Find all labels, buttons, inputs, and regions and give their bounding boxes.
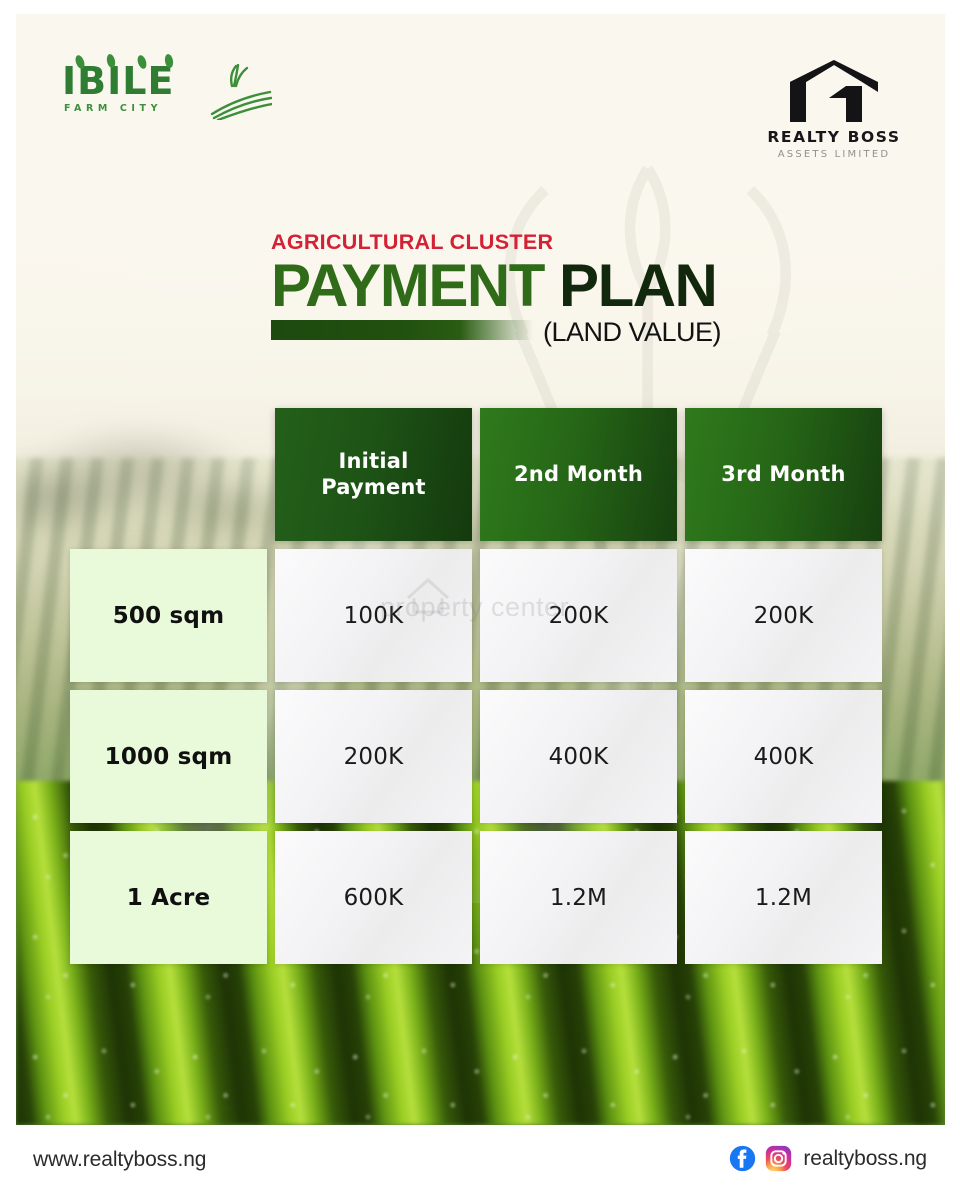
cell-2nd-month: 400K: [480, 690, 677, 823]
title-word-payment: PAYMENT: [271, 252, 544, 319]
cell-initial-payment: 200K: [275, 690, 472, 823]
realty-boss-monogram-icon: [750, 58, 918, 124]
header-initial-line1: Initial: [339, 449, 409, 473]
grass-field-icon: [210, 64, 272, 120]
cell-3rd-month: 1.2M: [685, 831, 882, 964]
column-gap: [472, 549, 480, 682]
realty-boss-name: REALTY BOSS: [750, 128, 918, 146]
cell-2nd-month: 1.2M: [480, 831, 677, 964]
row-label: 1 Acre: [70, 831, 267, 964]
title-eyebrow: AGRICULTURAL CLUSTER: [271, 232, 791, 254]
row-label: 1000 sqm: [70, 690, 267, 823]
column-header-initial-payment: Initial Payment: [275, 408, 472, 541]
page-title: PAYMENT PLAN: [271, 258, 791, 314]
title-underline-bar: [271, 320, 533, 340]
column-gap: [677, 408, 685, 541]
cell-3rd-month: 400K: [685, 690, 882, 823]
row-label: 500 sqm: [70, 549, 267, 682]
footer: www.realtyboss.ng: [0, 1125, 960, 1200]
column-gap: [677, 690, 685, 823]
column-gap: [472, 831, 480, 964]
website-url[interactable]: www.realtyboss.ng: [33, 1148, 206, 1172]
column-gap: [677, 831, 685, 964]
cell-initial-payment: 100K: [275, 549, 472, 682]
title-subtitle: (LAND VALUE): [543, 317, 721, 348]
column-header-3rd-month: 3rd Month: [685, 408, 882, 541]
realty-boss-logo: REALTY BOSS ASSETS LIMITED: [750, 58, 918, 159]
facebook-icon[interactable]: [729, 1145, 756, 1172]
column-header-2nd-month: 2nd Month: [480, 408, 677, 541]
table-row: 1000 sqm 200K 400K 400K: [70, 690, 890, 823]
column-gap: [472, 408, 480, 541]
ibile-farm-city-logo: IBILE FARM CITY: [62, 62, 277, 124]
cell-2nd-month: 200K: [480, 549, 677, 682]
column-gap: [267, 690, 275, 823]
payment-plan-table: Initial Payment 2nd Month 3rd Month 500 …: [70, 408, 890, 972]
title-block: AGRICULTURAL CLUSTER PAYMENT PLAN (LAND …: [271, 232, 791, 340]
instagram-icon[interactable]: [765, 1145, 792, 1172]
column-gap: [472, 690, 480, 823]
social-links: realtyboss.ng: [729, 1145, 927, 1172]
cell-initial-payment: 600K: [275, 831, 472, 964]
cell-3rd-month: 200K: [685, 549, 882, 682]
column-gap: [267, 831, 275, 964]
table-header-row: Initial Payment 2nd Month 3rd Month: [275, 408, 890, 541]
payment-plan-flyer: IBILE FARM CITY REALTY: [0, 0, 960, 1200]
column-gap: [677, 549, 685, 682]
table-row: 1 Acre 600K 1.2M 1.2M: [70, 831, 890, 964]
column-gap: [267, 549, 275, 682]
leaf-sprout-icon: [70, 53, 200, 69]
header-initial-line2: Payment: [321, 475, 426, 499]
title-word-plan: PLAN: [544, 252, 717, 319]
table-row: 500 sqm 100K 200K 200K: [70, 549, 890, 682]
social-handle[interactable]: realtyboss.ng: [803, 1147, 927, 1171]
realty-boss-sub: ASSETS LIMITED: [750, 149, 918, 159]
